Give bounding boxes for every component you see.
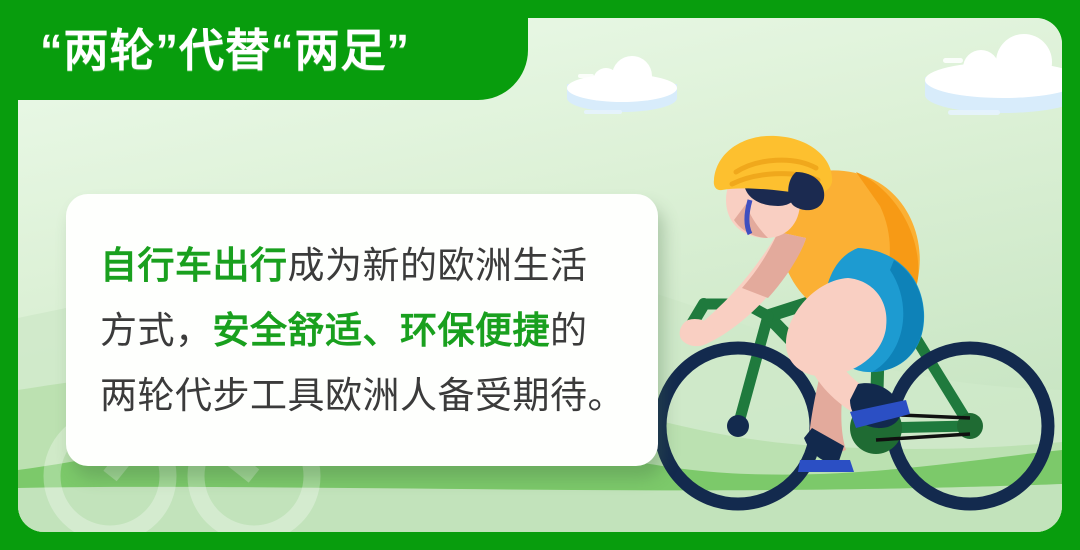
card-line-2-lead: 方式， xyxy=(100,310,213,351)
text-card: 自行车出行成为新的欧洲生活 方式，安全舒适、环保便捷的 两轮代步工具欧洲人备受期… xyxy=(66,194,658,466)
cyclist-illustration xyxy=(618,128,1062,532)
card-line-2-tail: 的 xyxy=(550,310,588,351)
card-line-1-rest: 成为新的欧洲生活 xyxy=(288,245,588,286)
card-line-1: 自行车出行成为新的欧洲生活 xyxy=(100,233,624,298)
title-banner: “两轮”代替“两足” xyxy=(0,0,528,100)
card-line-3-text: 两轮代步工具欧洲人备受期待。 xyxy=(100,375,625,416)
card-line-2: 方式，安全舒适、环保便捷的 xyxy=(100,298,624,363)
card-line-3: 两轮代步工具欧洲人备受期待。 xyxy=(100,363,624,428)
page-title: “两轮”代替“两足” xyxy=(40,28,410,73)
front-hub xyxy=(727,415,749,437)
card-line-2-highlight: 安全舒适、环保便捷 xyxy=(213,310,551,351)
card-line-1-highlight: 自行车出行 xyxy=(100,245,288,286)
poster-root: 自行车出行成为新的欧洲生活 方式，安全舒适、环保便捷的 两轮代步工具欧洲人备受期… xyxy=(0,0,1080,550)
